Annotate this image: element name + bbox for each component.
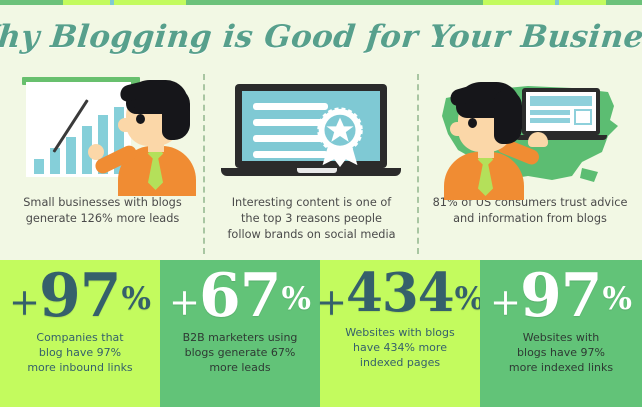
panel-caption: Small businesses with blogs generate 126… [0, 195, 205, 227]
panel-interesting-content: Interesting content is one of the top 3 … [205, 70, 418, 258]
screen-thumbnail [574, 109, 592, 125]
stripe-segment [114, 0, 186, 5]
stat-plus-sign: + [490, 284, 521, 321]
stripe-segment [0, 0, 63, 5]
statistics-row: +97% Companies that blog have 97% more i… [0, 260, 642, 407]
stat-caption: Websites with blogs have 434% more index… [335, 325, 464, 370]
presenter-eye [136, 114, 145, 124]
stat-number: 97 [39, 268, 121, 326]
caption-line: follow brands on social media [213, 227, 410, 243]
caption-line: more leads [183, 360, 298, 375]
caption-line: indexed pages [345, 355, 454, 370]
stat-card-indexed-pages: +434% Websites with blogs have 434% more… [320, 260, 480, 407]
caption-line: blogs generate 67% [183, 345, 298, 360]
title-bar: Why Blogging is Good for Your Business [0, 8, 642, 66]
stat-card-b2b-leads: +67% B2B marketers using blogs generate … [160, 260, 320, 407]
caption-line: B2B marketers using [183, 330, 298, 345]
stat-value: +97% [9, 268, 151, 326]
chart-bar [34, 159, 44, 174]
page-title: Why Blogging is Good for Your Business [0, 19, 642, 55]
panel-us-consumers: 81% of US consumers trust advice and inf… [418, 70, 642, 258]
caption-line: blogs have 97% [509, 345, 613, 360]
stripe-segment [606, 0, 642, 5]
stat-caption: Websites with blogs have 97% more indexe… [499, 330, 623, 375]
caption-line: and information from blogs [426, 211, 634, 227]
presenter-nose [118, 118, 134, 132]
presenter-nose [450, 122, 466, 136]
illustration-panels: Small businesses with blogs generate 126… [0, 70, 642, 258]
infographic-root: Why Blogging is Good for Your Business [0, 0, 642, 407]
stat-card-indexed-links: +97% Websites with blogs have 97% more i… [480, 260, 642, 407]
stat-percent-sign: % [603, 284, 632, 315]
presenter-hair-side [162, 88, 190, 140]
presenter-eye [468, 118, 477, 128]
panel-small-businesses: Small businesses with blogs generate 126… [0, 70, 205, 258]
stat-number: 67 [199, 268, 281, 326]
caption-line: Small businesses with blogs [8, 195, 197, 211]
stat-percent-sign: % [282, 284, 311, 315]
presenter-hair-side [494, 90, 522, 144]
chart-bar [66, 137, 76, 174]
laptop-illustration [235, 84, 387, 182]
caption-line: more indexed links [509, 360, 613, 375]
stripe-segment [186, 0, 482, 5]
stat-value: +67% [169, 268, 311, 326]
award-ribbon-icon [314, 105, 366, 167]
stat-value: +434% [316, 268, 484, 321]
presenter-hand [528, 132, 548, 147]
top-accent-stripe [0, 0, 642, 5]
stripe-segment [483, 0, 555, 5]
presenter-figure-icon [444, 78, 544, 196]
stat-number: 97 [520, 268, 602, 326]
usmap-presenter-laptop-icon [418, 70, 642, 195]
stat-plus-sign: + [169, 284, 200, 321]
caption-line: Interesting content is one of [213, 195, 410, 211]
caption-line: the top 3 reasons people [213, 211, 410, 227]
stripe-segment [559, 0, 606, 5]
presenter-hand [88, 144, 104, 160]
stat-number: 434 [346, 268, 454, 319]
stat-caption: Companies that blog have 97% more inboun… [17, 330, 142, 375]
stripe-segment [63, 0, 110, 5]
stat-plus-sign: + [316, 284, 347, 321]
stat-plus-sign: + [9, 284, 40, 321]
caption-line: more inbound links [27, 360, 132, 375]
caption-line: Companies that [27, 330, 132, 345]
stat-card-inbound-links: +97% Companies that blog have 97% more i… [0, 260, 160, 407]
caption-line: Websites with [509, 330, 613, 345]
panel-caption: Interesting content is one of the top 3 … [205, 195, 418, 243]
laptop-screen [242, 91, 380, 161]
laptop-lid [235, 84, 387, 168]
caption-line: blog have 97% [27, 345, 132, 360]
caption-line: generate 126% more leads [8, 211, 197, 227]
laptop-trackpad-notch [297, 168, 337, 173]
stat-percent-sign: % [122, 284, 151, 315]
laptop-award-icon [205, 70, 418, 195]
caption-line: have 434% more [345, 340, 454, 355]
stat-value: +97% [490, 268, 632, 326]
stat-caption: B2B marketers using blogs generate 67% m… [173, 330, 308, 375]
presenter-bar-chart-icon [0, 70, 205, 195]
caption-line: Websites with blogs [345, 325, 454, 340]
presenter-figure-icon [110, 74, 202, 195]
